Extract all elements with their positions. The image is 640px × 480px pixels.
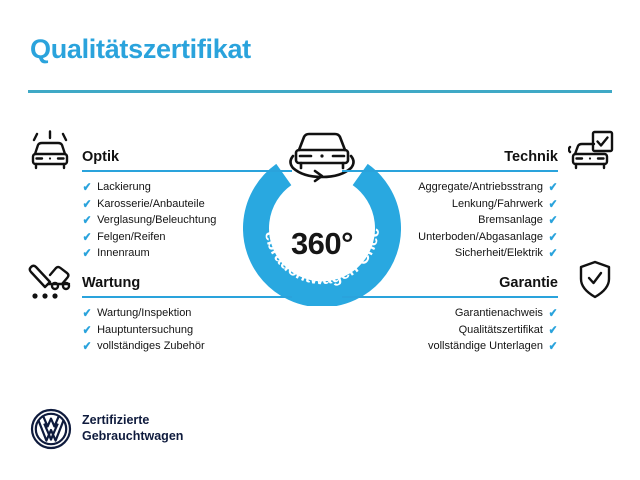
vw-logo-text: Zertifizierte Gebrauchtwagen [82,412,183,444]
section-technik: Technik Aggregate/Antriebsstrang✔ Lenkun… [410,142,558,278]
list-item: Sicherheit/Elektrik✔ [410,245,558,262]
wrench-car-icon [26,262,74,309]
list-item: Qualitätszertifikat✔ [410,322,558,339]
list-item-label: Aggregate/Antriebsstrang [418,179,543,196]
check-icon: ✔ [83,198,92,210]
list-item-label: Wartung/Inspektion [97,305,191,322]
car-shine-icon [28,130,74,177]
checklist-wartung: ✔Wartung/Inspektion ✔Hauptuntersuchung ✔… [82,305,204,355]
check-icon: ✔ [549,324,558,336]
page-title: Qualitätszertifikat [30,34,251,65]
section-wartung: Wartung ✔Wartung/Inspektion ✔Hauptunters… [82,268,204,371]
section-divider-technik [342,170,558,173]
badge-center-text: 360° [243,226,401,262]
list-item: ✔vollständiges Zubehör [82,338,204,355]
check-icon: ✔ [549,307,558,319]
check-icon: ✔ [83,307,92,319]
vw-logo-line1: Zertifizierte [82,412,183,428]
list-item: ✔Karosserie/Anbauteile [82,196,204,213]
section-divider-optik [82,170,292,173]
check-icon: ✔ [549,247,558,259]
list-item: Bremsanlage✔ [410,212,558,229]
list-item-label: Unterboden/Abgasanlage [418,229,543,246]
list-item: ✔Felgen/Reifen [82,229,204,246]
check-icon: ✔ [549,198,558,210]
list-item-label: vollständiges Zubehör [97,338,205,355]
list-item: ✔Wartung/Inspektion [82,305,204,322]
list-item: vollständige Unterlagen✔ [410,338,558,355]
check-icon: ✔ [83,340,92,352]
check-icon: ✔ [83,231,92,243]
list-item-label: Garantienachweis [455,305,543,322]
list-item-label: Lenkung/Fahrwerk [452,196,543,213]
list-item-label: Karosserie/Anbauteile [97,196,205,213]
check-icon: ✔ [83,214,92,226]
car-checkbox-icon [568,130,614,177]
section-divider-garantie [342,296,558,299]
list-item-label: vollständige Unterlagen [428,338,543,355]
list-item-label: Lackierung [97,179,151,196]
list-item-label: Sicherheit/Elektrik [455,245,543,262]
list-item: ✔Hauptuntersuchung [82,322,204,339]
section-header-optik: Optik [82,142,204,172]
list-item: Aggregate/Antriebsstrang✔ [410,179,558,196]
list-item: Garantienachweis✔ [410,305,558,322]
section-title-garantie: Garantie [499,275,558,291]
vw-logo-line2: Gebrauchtwagen [82,428,183,444]
section-header-garantie: Garantie [410,268,558,298]
list-item: ✔Verglasung/Beleuchtung [82,212,204,229]
check-icon: ✔ [549,181,558,193]
check-icon: ✔ [549,340,558,352]
section-garantie: Garantie Garantienachweis✔ Qualitätszert… [410,268,558,371]
section-header-technik: Technik [410,142,558,172]
list-item: ✔Lackierung [82,179,204,196]
list-item: Lenkung/Fahrwerk✔ [410,196,558,213]
checklist-optik: ✔Lackierung ✔Karosserie/Anbauteile ✔Verg… [82,179,204,262]
vw-logo-icon [30,408,72,455]
check-icon: ✔ [83,324,92,336]
checklist-technik: Aggregate/Antriebsstrang✔ Lenkung/Fahrwe… [410,179,558,262]
check-icon: ✔ [549,214,558,226]
list-item-label: Qualitätszertifikat [459,322,543,339]
checklist-garantie: Garantienachweis✔ Qualitätszertifikat✔ v… [410,305,558,355]
check-icon: ✔ [83,247,92,259]
list-item-label: Hauptuntersuchung [97,322,193,339]
section-title-wartung: Wartung [82,275,140,291]
section-divider-wartung [82,296,292,299]
shield-check-icon [578,260,612,305]
section-optik: Optik ✔Lackierung ✔Karosserie/Anbauteile… [82,142,204,278]
check-icon: ✔ [549,231,558,243]
section-header-wartung: Wartung [82,268,204,298]
section-title-technik: Technik [504,149,558,165]
list-item: ✔Innenraum [82,245,204,262]
list-item-label: Verglasung/Beleuchtung [97,212,216,229]
list-item-label: Felgen/Reifen [97,229,166,246]
section-title-optik: Optik [82,149,119,165]
list-item: Unterboden/Abgasanlage✔ [410,229,558,246]
list-item-label: Innenraum [97,245,150,262]
list-item-label: Bremsanlage [478,212,543,229]
check-icon: ✔ [83,181,92,193]
header-divider [28,90,612,93]
